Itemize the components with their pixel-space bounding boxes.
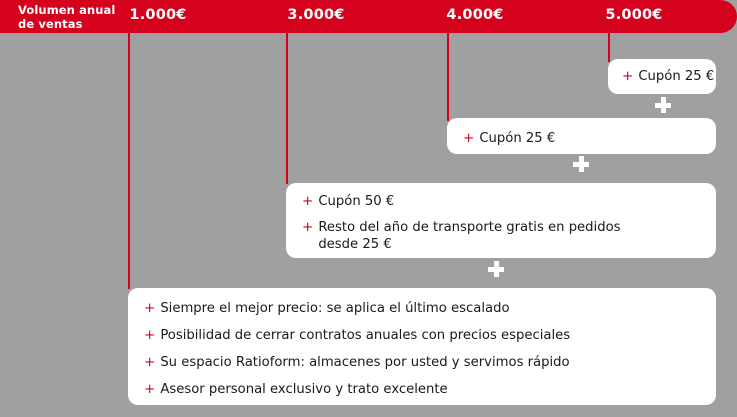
bullet-plus-icon: + — [144, 381, 155, 398]
plus-connector-icon-tier4-tier3 — [573, 156, 589, 172]
bullet-plus-icon: + — [302, 219, 313, 236]
list-item-label: Siempre el mejor precio: se aplica el úl… — [160, 300, 716, 317]
page-title: Volumen anual de ventas — [18, 4, 128, 31]
list-item: + Asesor personal exclusivo y trato exce… — [144, 381, 716, 398]
tick-label-4000: 4.000€ — [446, 7, 503, 23]
plus-connector-icon-tier5-tier4 — [655, 97, 671, 113]
list-item-label: Cupón 25 € — [479, 130, 716, 147]
list-item: + Posibilidad de cerrar contratos anuale… — [144, 327, 716, 344]
list-item: + Cupón 50 € — [302, 193, 716, 210]
list-item-label: Cupón 50 € — [318, 193, 716, 210]
bullet-plus-icon: + — [144, 327, 155, 344]
bullet-plus-icon: + — [463, 130, 474, 147]
card-tier-4000[interactable]: + Cupón 25 € — [447, 118, 716, 154]
card-tier-5000[interactable]: + Cupón 25 € — [608, 59, 716, 94]
list-item: + Cupón 25 € — [463, 130, 716, 147]
tick-label-3000: 3.000€ — [287, 7, 344, 23]
list-item-label: Su espacio Ratioform: almacenes por uste… — [160, 354, 716, 371]
header-band: Volumen anual de ventas 1.000€ 3.000€ 4.… — [0, 0, 737, 33]
card-tier-3000[interactable]: + Cupón 50 € + Resto del año de transpor… — [286, 183, 716, 258]
list-item-label: Asesor personal exclusivo y trato excele… — [160, 381, 716, 398]
guide-line-1000 — [128, 33, 130, 289]
infographic-stage: Volumen anual de ventas 1.000€ 3.000€ 4.… — [0, 0, 737, 417]
list-item-label: Resto del año de transporte gratis en pe… — [318, 219, 716, 253]
list-item: + Cupón 25 € — [622, 68, 716, 85]
tick-label-1000: 1.000€ — [129, 7, 186, 23]
plus-connector-icon-tier3-tier1 — [488, 261, 504, 277]
tick-label-5000: 5.000€ — [605, 7, 662, 23]
guide-line-4000 — [447, 33, 449, 121]
guide-line-5000 — [608, 33, 610, 62]
bullet-plus-icon: + — [302, 193, 313, 210]
list-item: + Resto del año de transporte gratis en … — [302, 219, 716, 253]
card-tier-1000[interactable]: + Siempre el mejor precio: se aplica el … — [128, 288, 716, 405]
list-item: + Siempre el mejor precio: se aplica el … — [144, 300, 716, 317]
bullet-plus-icon: + — [144, 354, 155, 371]
guide-line-3000 — [286, 33, 288, 184]
list-item-label: Posibilidad de cerrar contratos anuales … — [160, 327, 716, 344]
list-item: + Su espacio Ratioform: almacenes por us… — [144, 354, 716, 371]
list-item-label: Cupón 25 € — [638, 68, 716, 85]
bullet-plus-icon: + — [144, 300, 155, 317]
bullet-plus-icon: + — [622, 68, 633, 85]
